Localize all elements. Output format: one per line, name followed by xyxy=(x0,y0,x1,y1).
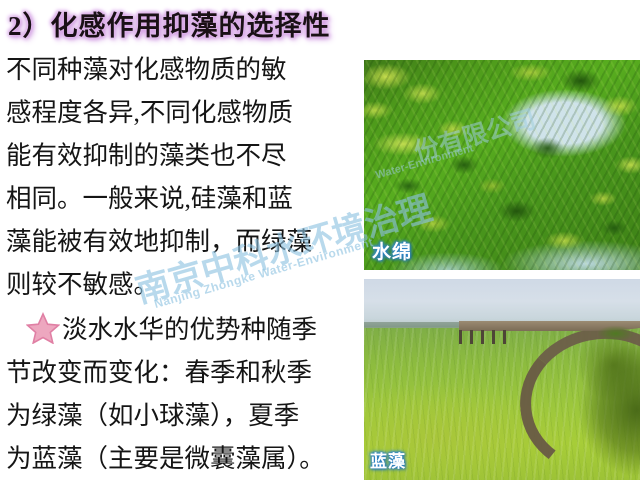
photo-spirogyra: 份有限公司 Water-Environment 水绵 xyxy=(362,58,640,270)
pier-pilings xyxy=(459,330,509,344)
text-line: 为绿藻（如小球藻），夏季 xyxy=(6,394,358,437)
text-column: 不同种藻对化感物质的敏 感程度各异,不同化感物质 能有效抑制的藻类也不尽 相同。… xyxy=(6,48,358,480)
paragraph-seasonal-dominance: 淡水水华的优势种随季 节改变而变化：春季和秋季 为绿藻（如小球藻），夏季 为蓝藻… xyxy=(6,308,358,480)
text-line: 感程度各异,不同化感物质 xyxy=(6,91,358,134)
slide: 2）化感作用抑藻的选择性 不同种藻对化感物质的敏 感程度各异,不同化感物质 能有… xyxy=(0,0,640,480)
star-bullet-icon xyxy=(26,312,60,344)
text-line: 为蓝藻（主要是微囊藻属）。 xyxy=(6,437,358,480)
photo-caption-cyanobacteria: 蓝藻 xyxy=(370,447,406,472)
paragraph-sensitivity: 不同种藻对化感物质的敏 感程度各异,不同化感物质 能有效抑制的藻类也不尽 相同。… xyxy=(6,48,358,306)
text-line: 藻能被有效地抑制，而绿藻 xyxy=(6,220,358,263)
text-line: 能有效抑制的藻类也不尽 xyxy=(6,134,358,177)
shore-vegetation xyxy=(598,324,640,340)
text-line-with-bullet: 淡水水华的优势种随季 xyxy=(6,308,358,351)
text-line: 相同。一般来说,硅藻和蓝 xyxy=(6,177,358,220)
text-line: 不同种藻对化感物质的敏 xyxy=(6,48,358,91)
photo-cyanobacteria: 蓝藻 xyxy=(362,277,640,480)
text-line: 淡水水华的优势种随季 xyxy=(62,315,317,344)
text-line: 则较不敏感。 xyxy=(6,263,358,306)
photo-caption-spirogyra: 水绵 xyxy=(372,237,412,264)
text-line: 节改变而变化：春季和秋季 xyxy=(6,351,358,394)
page-title: 2）化感作用抑藻的选择性 xyxy=(8,4,428,43)
